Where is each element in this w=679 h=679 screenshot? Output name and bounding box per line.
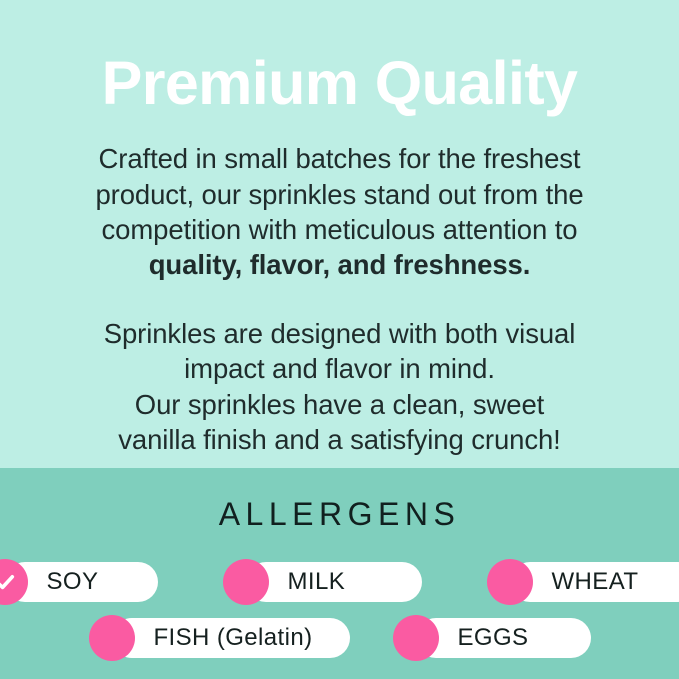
allergen-pill-track: EGGS [416, 618, 591, 658]
allergen-pill-eggs[interactable]: EGGS [393, 615, 591, 661]
paragraph-one-line: competition with meticulous attention to [40, 212, 639, 247]
paragraph-one: Crafted in small batches for the freshes… [40, 141, 639, 282]
dot-icon [223, 559, 269, 605]
paragraph-two-line: impact and flavor in mind. [40, 351, 639, 386]
allergen-label: WHEAT [552, 568, 639, 596]
allergen-pill-milk[interactable]: MILK [223, 559, 422, 605]
allergens-heading: ALLERGENS [219, 496, 461, 533]
dot-icon [393, 615, 439, 661]
product-info-card: Premium Quality Crafted in small batches… [0, 0, 679, 679]
allergen-pill-track: WHEAT [510, 562, 679, 602]
allergen-pill-soy[interactable]: SOY [0, 559, 158, 605]
allergen-row: SOY MILK WHEAT [0, 559, 679, 605]
premium-quality-section: Premium Quality Crafted in small batches… [0, 0, 679, 468]
allergen-pill-fish[interactable]: FISH (Gelatin) [89, 615, 350, 661]
paragraph-one-line: Crafted in small batches for the freshes… [40, 141, 639, 176]
paragraph-one-line: product, our sprinkles stand out from th… [40, 177, 639, 212]
paragraph-two: Sprinkles are designed with both visual … [40, 316, 639, 457]
allergen-label: SOY [47, 568, 99, 596]
paragraph-two-line: vanilla finish and a satisfying crunch! [40, 422, 639, 457]
allergens-section: ALLERGENS SOY MILK [0, 468, 679, 679]
allergen-label: MILK [288, 568, 346, 596]
paragraph-two-line: Our sprinkles have a clean, sweet [40, 387, 639, 422]
allergen-label: EGGS [458, 624, 529, 652]
allergen-pill-track: FISH (Gelatin) [112, 618, 350, 658]
allergen-pill-wheat[interactable]: WHEAT [487, 559, 679, 605]
allergen-label: FISH (Gelatin) [154, 624, 313, 652]
allergen-pill-track: MILK [246, 562, 422, 602]
paragraph-two-line: Sprinkles are designed with both visual [40, 316, 639, 351]
dot-icon [89, 615, 135, 661]
allergen-row: FISH (Gelatin) EGGS [0, 615, 679, 661]
page-title: Premium Quality [102, 52, 578, 115]
dot-icon [487, 559, 533, 605]
description-block: Crafted in small batches for the freshes… [40, 141, 639, 457]
paragraph-one-line-emphasis: quality, flavor, and freshness. [40, 247, 639, 282]
paragraph-spacer [40, 282, 639, 316]
